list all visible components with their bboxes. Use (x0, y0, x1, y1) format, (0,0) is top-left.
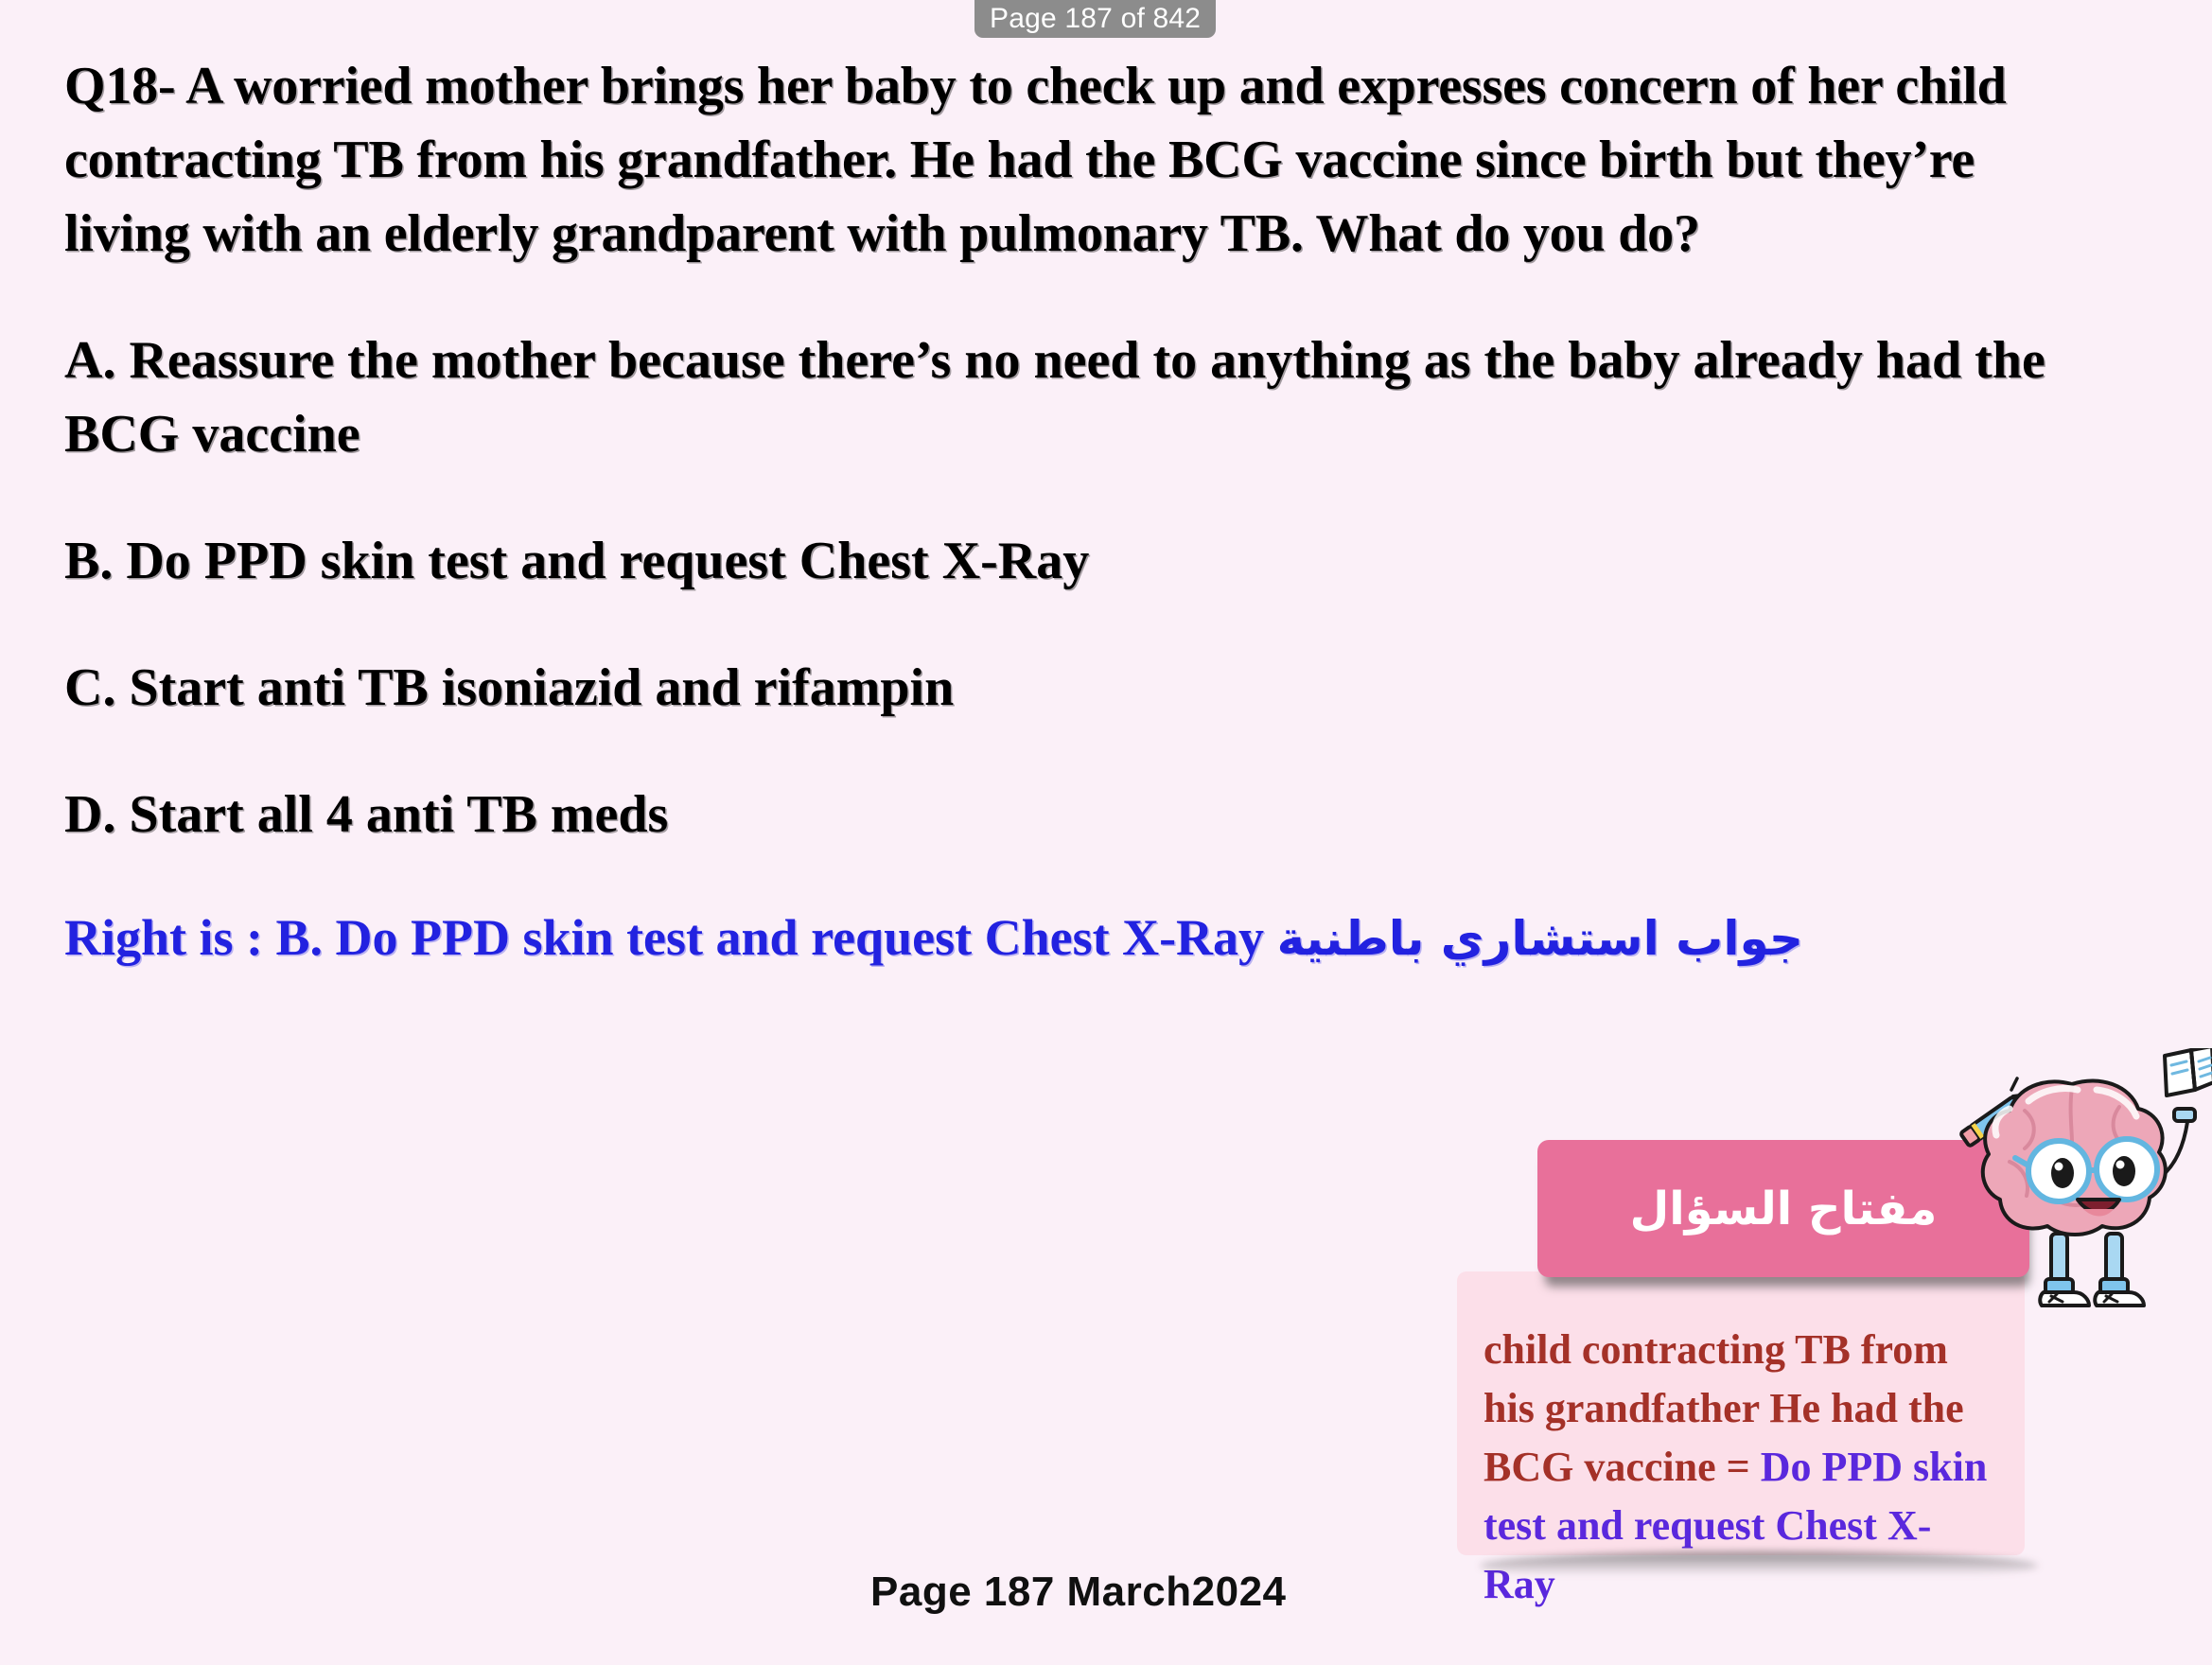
brain-mascot-icon (1930, 1048, 2212, 1313)
option-d[interactable]: D. Start all 4 anti TB meds (64, 778, 2108, 851)
question-key-body: child contracting TB from his grandfathe… (1483, 1321, 1999, 1614)
correct-answer-arabic-note: جواب استشاري باطنية (1277, 911, 1803, 966)
correct-answer-line: Right is : B. Do PPD skin test and reque… (64, 904, 1957, 972)
page-indicator-badge: Page 187 of 842 (974, 0, 1216, 38)
spacer (64, 271, 2127, 324)
spacer (64, 725, 2127, 778)
question-key-card: child contracting TB from his grandfathe… (1457, 1271, 2025, 1555)
spacer (64, 598, 2127, 651)
question-stem: Q18- A worried mother brings her baby to… (64, 49, 2080, 271)
correct-answer-text: Right is : B. Do PPD skin test and reque… (64, 909, 1277, 966)
spacer (64, 471, 2127, 524)
slide-footer: Page 187 March2024 (870, 1566, 1287, 1619)
spacer (64, 851, 2127, 904)
option-b[interactable]: B. Do PPD skin test and request Chest X-… (64, 524, 2108, 598)
option-c[interactable]: C. Start anti TB isoniazid and rifampin (64, 651, 2108, 725)
slide-content: Q18- A worried mother brings her baby to… (64, 49, 2127, 972)
option-a[interactable]: A. Reassure the mother because there’s n… (64, 324, 2108, 471)
